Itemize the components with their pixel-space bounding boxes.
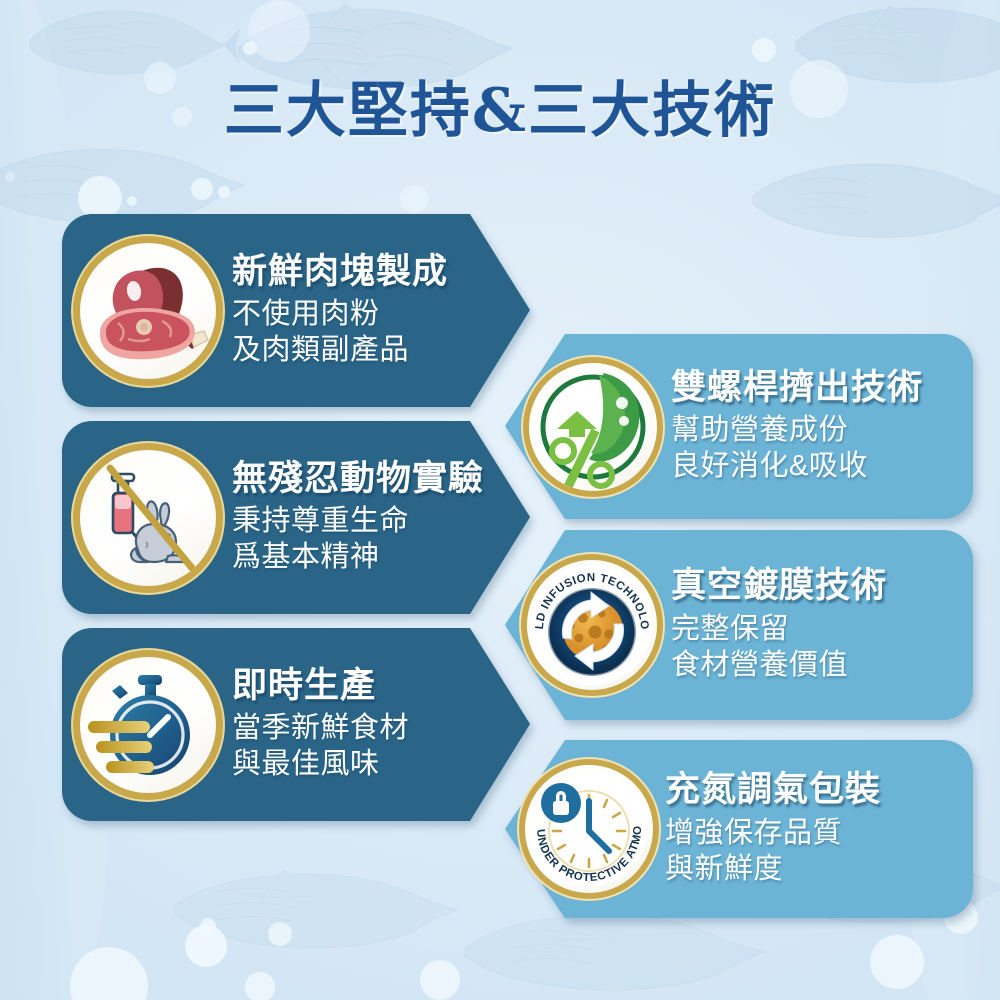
feature-card-no-animal-testing[interactable]: 無殘忍動物實驗 秉持尊重生命 爲基本精神 xyxy=(62,421,530,614)
bubble xyxy=(191,178,213,200)
card-subtitle: 當季新鮮食材 與最佳風味 xyxy=(232,711,409,783)
card-subtitle: 幫助營養成份 良好消化&吸收 xyxy=(671,413,923,485)
meat-cuts-icon xyxy=(80,243,216,379)
cold-infusion-icon: COLD INFUSION TECHNOLOGY xyxy=(527,560,657,690)
page-title: 三大堅持&三大技術 xyxy=(0,62,1000,149)
card-title: 無殘忍動物實驗 xyxy=(232,459,484,498)
bubble xyxy=(218,186,230,198)
infographic-canvas: 三大堅持&三大技術 xyxy=(0,0,1000,1000)
bubble xyxy=(268,922,292,946)
bubble xyxy=(245,972,275,1000)
no-animal-testing-icon xyxy=(80,450,216,586)
card-subtitle: 不使用肉粉 及肉類副產品 xyxy=(232,297,448,369)
card-subtitle: 完整保留 食材營養價值 xyxy=(671,612,887,684)
bubble xyxy=(200,918,216,934)
feature-card-nitrogen-packaging[interactable]: PACKED UNDER PROTECTIVE ATMOSPHERE 充氮調氣包… xyxy=(505,740,973,918)
stopwatch-icon xyxy=(80,657,216,793)
bubble xyxy=(243,41,257,55)
bubble xyxy=(870,935,924,989)
card-title: 充氮調氣包裝 xyxy=(665,770,881,809)
card-title: 即時生產 xyxy=(232,666,409,705)
card-title: 新鮮肉塊製成 xyxy=(232,252,448,291)
card-title: 真空鍍膜技術 xyxy=(671,566,887,605)
percent-leaf-icon xyxy=(529,363,657,491)
card-subtitle: 增強保存品質 與新鮮度 xyxy=(665,816,881,888)
feature-card-twin-screw-extrusion[interactable]: 雙螺桿擠出技術 幫助營養成份 良好消化&吸收 xyxy=(505,334,973,519)
feature-card-just-in-time-production[interactable]: 即時生產 當季新鮮食材 與最佳風味 xyxy=(62,628,530,821)
card-title: 雙螺桿擠出技術 xyxy=(671,368,923,407)
feature-card-vacuum-coating[interactable]: COLD INFUSION TECHNOLOGY 真空鍍膜技術 完整保留 食材營… xyxy=(505,530,973,720)
bubble xyxy=(420,960,460,1000)
feature-card-fresh-meat[interactable]: 新鮮肉塊製成 不使用肉粉 及肉類副產品 xyxy=(62,214,530,407)
bubble xyxy=(248,0,310,62)
protective-atmosphere-clock-icon: PACKED UNDER PROTECTIVE ATMOSPHERE xyxy=(525,765,653,893)
bubble xyxy=(752,38,776,62)
bubble xyxy=(400,185,428,213)
fish-watermark xyxy=(745,140,1000,250)
card-subtitle: 秉持尊重生命 爲基本精神 xyxy=(232,504,484,576)
bubble xyxy=(127,196,137,206)
